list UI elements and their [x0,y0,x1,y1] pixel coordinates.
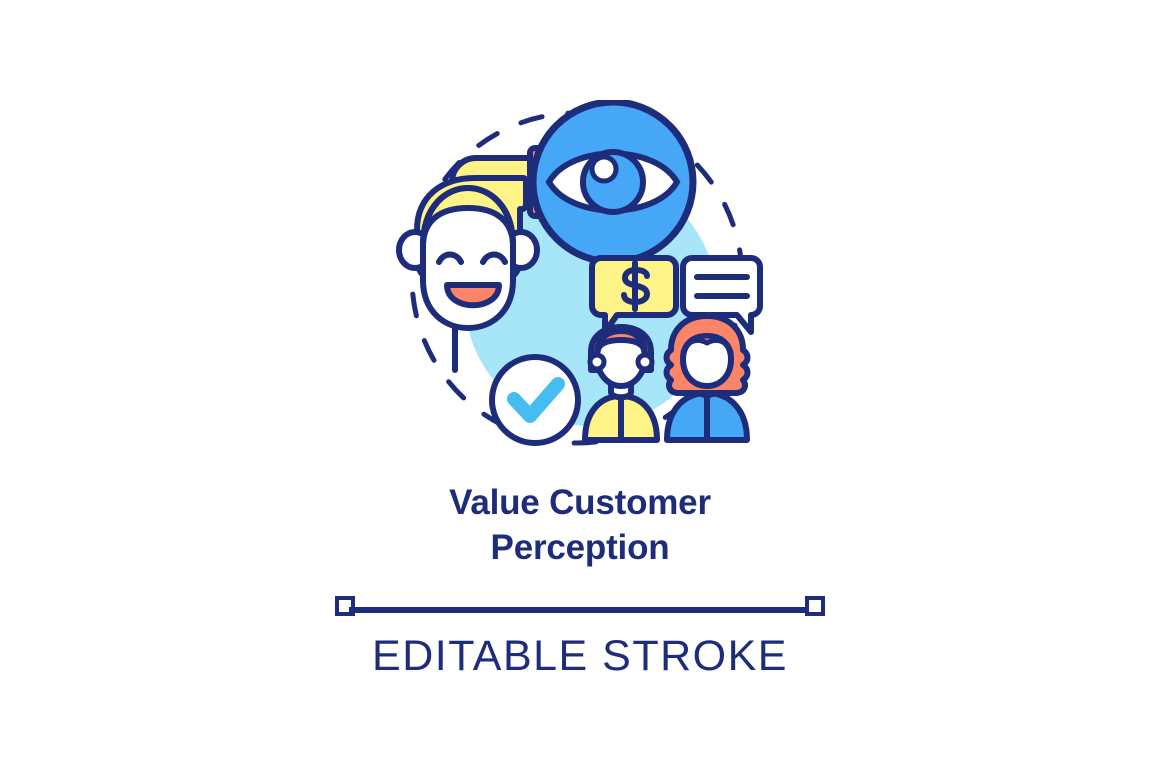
eye-highlight [592,157,616,181]
square-handle-icon-left [335,596,355,616]
illustration-svg [395,100,775,460]
face-mouth [447,285,499,305]
editable-stroke-label: EDITABLE STROKE [0,632,1160,681]
title-line-2: Perception [0,525,1160,570]
horizontal-stroke-line-icon [349,607,811,613]
male-ear-right [638,355,652,369]
concept-illustration [395,100,775,460]
stroke-bar [335,594,825,626]
concept-title: Value Customer Perception [0,480,1160,570]
title-line-1: Value Customer [0,480,1160,525]
editable-stroke-note: EDITABLE STROKE [0,594,1160,681]
female-customer-avatar-icon [667,316,748,440]
page-canvas: Value Customer Perception EDITABLE STROK… [0,0,1160,772]
square-handle-icon-right [805,596,825,616]
male-ear-left [590,355,604,369]
check-badge-icon [492,357,578,443]
